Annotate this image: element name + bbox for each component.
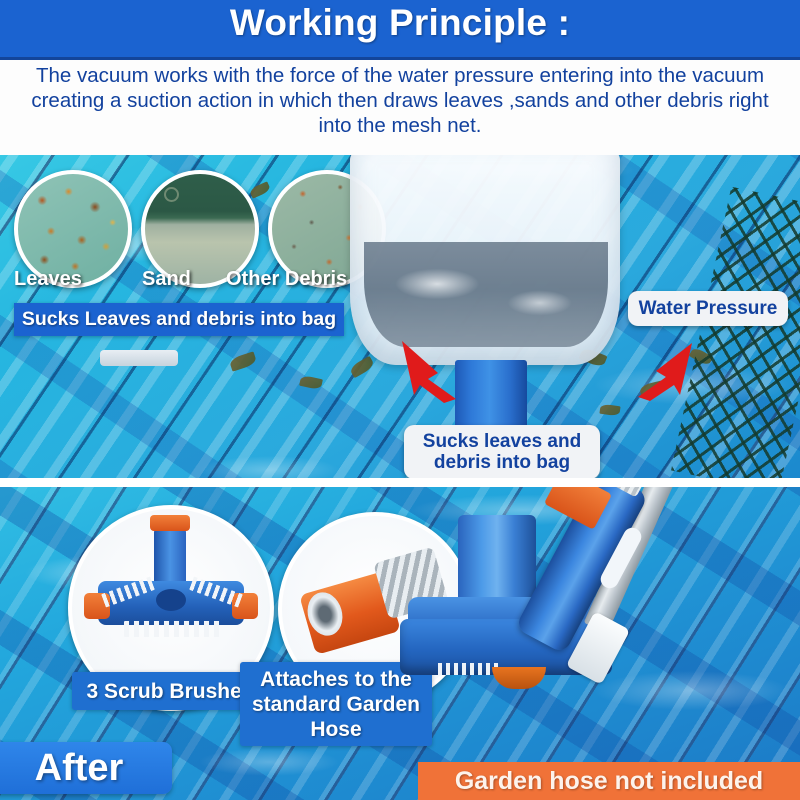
callout-sucks-leaves-debris: Sucks leaves and debris into bag: [404, 425, 600, 479]
callout-water-pressure: Water Pressure: [628, 291, 788, 326]
vacuum-head-bristles: [438, 663, 500, 675]
inset-label-other-debris: Other Debris: [226, 268, 347, 291]
page-title: Working Principle :: [0, 2, 800, 44]
vacuum-head-wheel: [492, 667, 546, 689]
brush-head-collar: [150, 515, 190, 531]
header-band: Working Principle :: [0, 0, 800, 60]
product-infographic: Working Principle : The vacuum works wit…: [0, 0, 800, 800]
arrow-up-left-icon: [630, 341, 696, 403]
caption-scrub-brushes: 3 Scrub Brushes: [72, 672, 268, 710]
inset-label-sand: Sand: [142, 268, 191, 291]
subtitle-area: The vacuum works with the force of the w…: [0, 60, 800, 155]
scrub-bristles-center: [124, 621, 220, 637]
section-divider: [0, 478, 800, 487]
mesh-collection-bag: [350, 155, 620, 365]
mesh-bag-rim: [100, 350, 178, 366]
badge-after: After: [0, 742, 172, 794]
collected-debris: [364, 242, 608, 347]
vacuum-neck: [458, 515, 536, 609]
before-panel: Leaves Sand Other Debris Sucks Leaves an…: [0, 155, 800, 480]
brush-head-neck: [154, 527, 186, 589]
subtitle-text: The vacuum works with the force of the w…: [30, 63, 770, 138]
arrow-up-left-icon: [398, 333, 460, 403]
notice-garden-hose-not-included: Garden hose not included: [418, 762, 800, 800]
banner-sucks-leaves-into-bag: Sucks Leaves and debris into bag: [14, 303, 344, 336]
after-panel: 3 Scrub Brushes Attaches to the standard…: [0, 487, 800, 800]
brush-head-port: [156, 589, 186, 611]
inset-label-leaves: Leaves: [14, 268, 82, 291]
